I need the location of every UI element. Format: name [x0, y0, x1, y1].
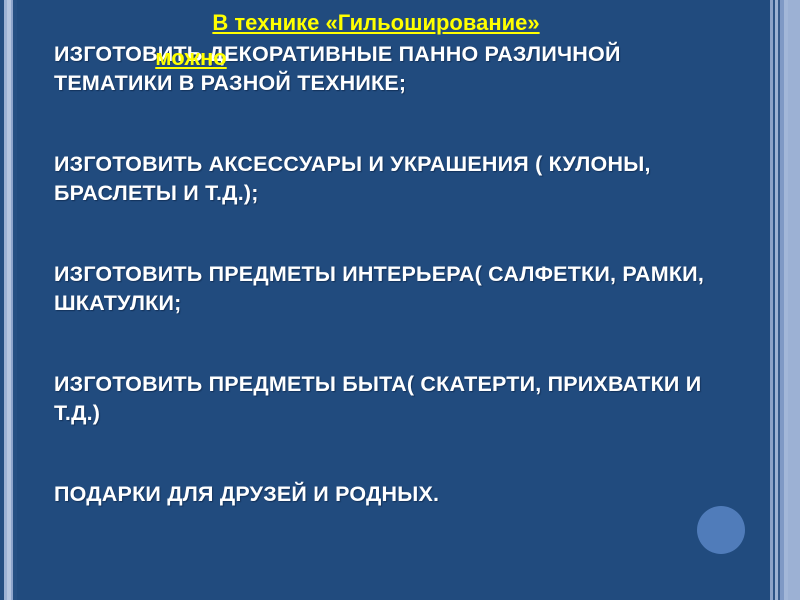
body-paragraph-5: ПОДАРКИ ДЛЯ ДРУЗЕЙ И РОДНЫХ. [54, 480, 714, 509]
body-paragraph-3: ИЗГОТОВИТЬ ПРЕДМЕТЫ ИНТЕРЬЕРА( САЛФЕТКИ,… [54, 260, 714, 318]
body-paragraph-2: ИЗГОТОВИТЬ АКСЕССУАРЫ И УКРАШЕНИЯ ( КУЛО… [54, 150, 714, 208]
slide-title-line-1: В технике «Гильоширование» [56, 8, 696, 37]
slide-body-text: ИЗГОТОВИТЬ ДЕКОРАТИВНЫЕ ПАННО РАЗЛИЧНОЙ … [54, 40, 714, 509]
right-edge-stripe-decoration [754, 0, 800, 600]
circle-decoration [697, 506, 745, 554]
slide-title-line-2: можно [56, 44, 326, 72]
slide-canvas: ИЗГОТОВИТЬ ДЕКОРАТИВНЫЕ ПАННО РАЗЛИЧНОЙ … [0, 0, 800, 600]
left-edge-stripe-decoration [0, 0, 17, 600]
body-paragraph-4: ИЗГОТОВИТЬ ПРЕДМЕТЫ БЫТА( СКАТЕРТИ, ПРИХ… [54, 370, 714, 428]
